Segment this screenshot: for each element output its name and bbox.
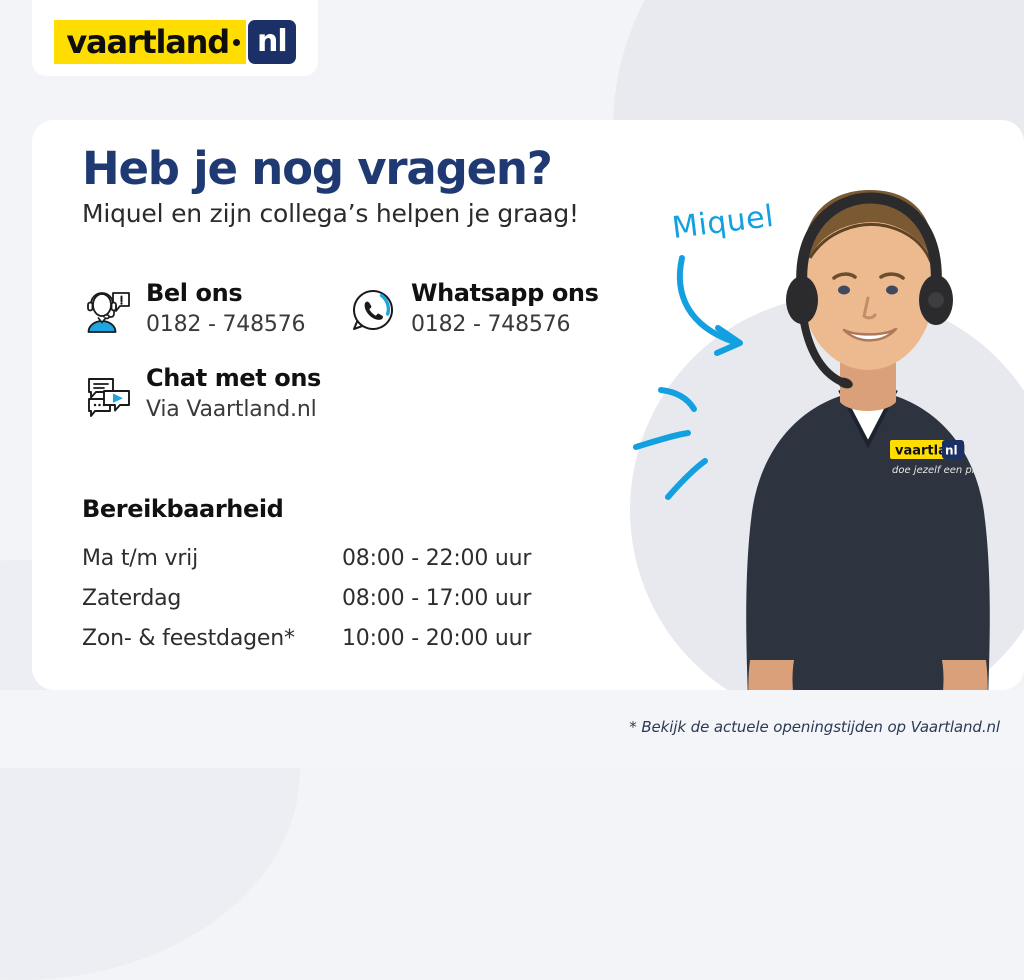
agent-illustration: vaartland nl doe jezelf een plezier (718, 140, 1018, 690)
svg-text:nl: nl (945, 444, 958, 458)
hours-day: Zaterdag (82, 579, 342, 619)
hours-day: Zon- & feestdagen* (82, 619, 342, 659)
hours-time: 10:00 - 20:00 uur (342, 619, 557, 659)
contact-whatsapp[interactable]: Whatsapp ons 0182 - 748576 (347, 280, 598, 339)
contact-row-primary: Bel ons 0182 - 748576 Whatsapp on (82, 280, 662, 339)
headset-person-icon (82, 284, 134, 336)
footer-disclaimer: * Bekijk de actuele openingstijden op Va… (0, 718, 1000, 736)
opening-hours: Bereikbaarheid Ma t/m vrij 08:00 - 22:00… (82, 495, 602, 659)
contact-chat-title: Chat met ons (146, 365, 321, 393)
contact-methods: Bel ons 0182 - 748576 Whatsapp on (82, 280, 662, 425)
chat-bubbles-icon (82, 369, 134, 421)
table-row: Zaterdag 08:00 - 17:00 uur (82, 579, 557, 619)
whatsapp-icon (347, 284, 399, 336)
table-row: Ma t/m vrij 08:00 - 22:00 uur (82, 539, 557, 579)
contact-call[interactable]: Bel ons 0182 - 748576 (82, 280, 347, 339)
opening-hours-table: Ma t/m vrij 08:00 - 22:00 uur Zaterdag 0… (82, 539, 557, 659)
logo-card: vaartland nl (32, 0, 318, 76)
page-subtitle: Miquel en zijn collega’s helpen je graag… (82, 198, 642, 229)
contact-call-text: Bel ons 0182 - 748576 (146, 280, 305, 339)
logo-wordmark: vaartland (66, 26, 229, 58)
contact-row-chat: Chat met ons Via Vaartland.nl (82, 365, 662, 424)
contact-whatsapp-number: 0182 - 748576 (411, 310, 598, 340)
hours-time: 08:00 - 22:00 uur (342, 539, 557, 579)
hours-day: Ma t/m vrij (82, 539, 342, 579)
contact-chat-text: Chat met ons Via Vaartland.nl (146, 365, 321, 424)
vaartland-logo[interactable]: vaartland nl (54, 20, 295, 64)
logo-navy-block: nl (248, 20, 296, 64)
contact-call-title: Bel ons (146, 280, 305, 308)
hours-time: 08:00 - 17:00 uur (342, 579, 557, 619)
contact-whatsapp-text: Whatsapp ons 0182 - 748576 (411, 280, 598, 339)
contact-chat[interactable]: Chat met ons Via Vaartland.nl (82, 365, 321, 424)
contact-chat-target: Via Vaartland.nl (146, 395, 321, 425)
logo-yellow-block: vaartland (54, 20, 246, 64)
logo-tld: nl (257, 27, 287, 57)
table-row: Zon- & feestdagen* 10:00 - 20:00 uur (82, 619, 557, 659)
hero-text-block: Heb je nog vragen? Miquel en zijn colleg… (82, 144, 642, 229)
svg-text:doe jezelf een plezier: doe jezelf een plezier (892, 465, 1000, 476)
agent-photo-area: Miquel (600, 120, 1024, 690)
opening-hours-title: Bereikbaarheid (82, 495, 602, 523)
promo-banner: vaartland nl Heb je nog vragen? Miquel e… (0, 0, 1024, 768)
contact-whatsapp-title: Whatsapp ons (411, 280, 598, 308)
logo-dot-icon (233, 39, 240, 46)
page-title: Heb je nog vragen? (82, 144, 642, 194)
contact-call-number: 0182 - 748576 (146, 310, 305, 340)
